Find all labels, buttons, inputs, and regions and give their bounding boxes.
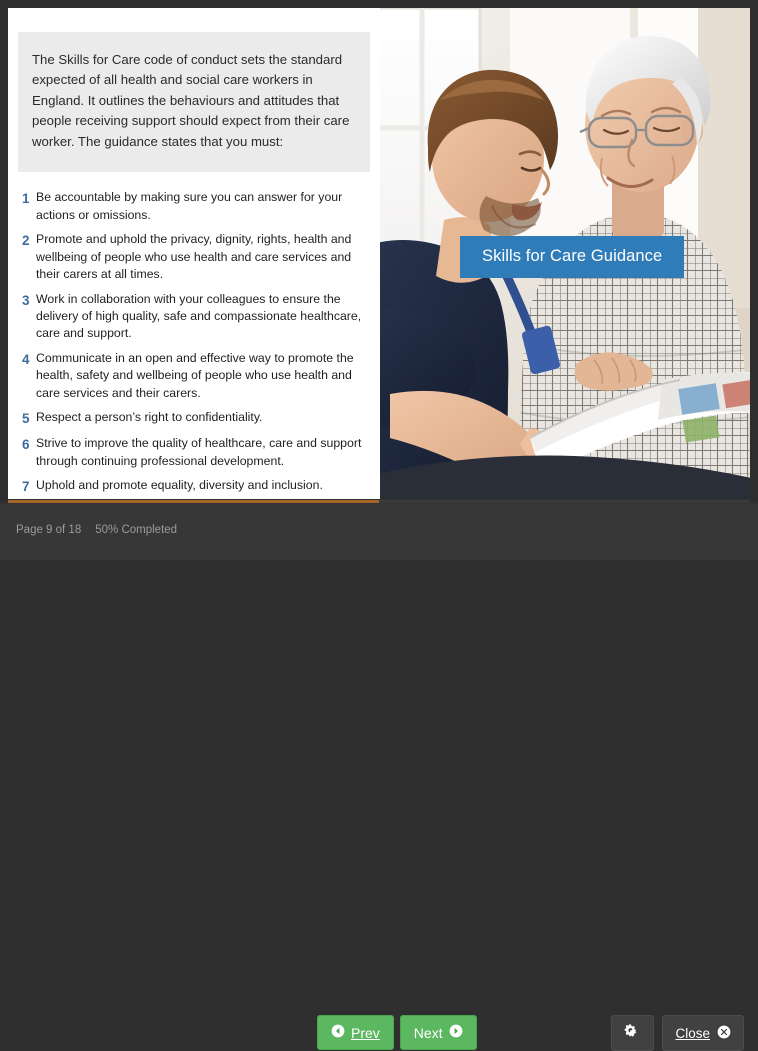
prev-button[interactable]: Prev: [317, 1015, 394, 1050]
player-frame-top: [0, 0, 758, 8]
slide-photo: Skills for Care Guidance: [380, 8, 750, 499]
close-button[interactable]: Close: [662, 1015, 744, 1051]
list-item: 4 Communicate in an open and effective w…: [22, 350, 368, 402]
progress-bar-track: [8, 500, 750, 503]
list-item-text: Respect a person’s right to confidential…: [36, 409, 262, 426]
completion-status: 50% Completed: [95, 524, 177, 536]
list-item: 2 Promote and uphold the privacy, dignit…: [22, 231, 368, 283]
course-player: The Skills for Care code of conduct sets…: [0, 0, 758, 560]
player-bottom-bar: Page 9 of 18 50% Completed Prev Next: [0, 504, 758, 560]
next-button[interactable]: Next: [400, 1015, 477, 1050]
arrow-left-circle-icon: [331, 1024, 345, 1041]
list-item-number: 7: [22, 477, 36, 496]
navigation-button-group: Prev Next: [317, 1015, 477, 1050]
intro-callout-box: The Skills for Care code of conduct sets…: [18, 32, 370, 172]
list-item: 6 Strive to improve the quality of healt…: [22, 435, 368, 470]
list-item-number: 1: [22, 189, 36, 208]
intro-paragraph: The Skills for Care code of conduct sets…: [32, 50, 354, 152]
list-item-text: Strive to improve the quality of healthc…: [36, 435, 368, 470]
prev-button-label: Prev: [351, 1025, 380, 1041]
gear-icon: [624, 1024, 641, 1042]
slide-text-column: The Skills for Care code of conduct sets…: [8, 8, 380, 499]
photo-caption-banner: Skills for Care Guidance: [460, 236, 684, 278]
list-item-text: Be accountable by making sure you can an…: [36, 189, 368, 224]
list-item-number: 6: [22, 435, 36, 454]
settings-button[interactable]: [611, 1015, 654, 1051]
list-item-text: Work in collaboration with your colleagu…: [36, 291, 368, 343]
slide-canvas: The Skills for Care code of conduct sets…: [8, 8, 750, 499]
list-item: 1 Be accountable by making sure you can …: [22, 189, 368, 224]
page-status: Page 9 of 18: [16, 524, 81, 536]
list-item-number: 4: [22, 350, 36, 369]
list-item-text: Uphold and promote equality, diversity a…: [36, 477, 323, 494]
player-tools-group: Close: [611, 1015, 744, 1051]
list-item: 5 Respect a person’s right to confidenti…: [22, 409, 368, 428]
status-text-group: Page 9 of 18 50% Completed: [16, 524, 177, 536]
list-item-number: 2: [22, 231, 36, 250]
list-item-number: 3: [22, 291, 36, 310]
code-of-conduct-list: 1 Be accountable by making sure you can …: [22, 189, 368, 496]
close-circle-icon: [717, 1025, 731, 1042]
list-item-number: 5: [22, 409, 36, 428]
arrow-right-circle-icon: [449, 1024, 463, 1041]
code-of-conduct-list-wrapper: 1 Be accountable by making sure you can …: [22, 189, 368, 496]
list-item-text: Communicate in an open and effective way…: [36, 350, 368, 402]
player-frame-left: [0, 0, 8, 502]
progress-bar-fill: [8, 500, 379, 503]
list-item: 7 Uphold and promote equality, diversity…: [22, 477, 368, 496]
close-button-label: Close: [675, 1026, 710, 1041]
next-button-label: Next: [414, 1025, 443, 1041]
player-frame-right: [750, 0, 758, 502]
list-item-text: Promote and uphold the privacy, dignity,…: [36, 231, 368, 283]
list-item: 3 Work in collaboration with your collea…: [22, 291, 368, 343]
